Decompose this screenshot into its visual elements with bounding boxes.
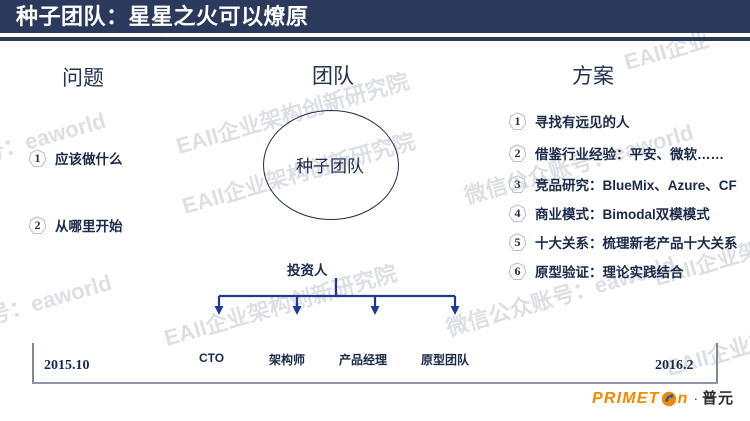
page-title: 种子团队：星星之火可以燎原: [16, 3, 309, 31]
number-badge-label: 2: [508, 144, 527, 163]
timeline-baseline: [32, 382, 718, 384]
list-item-label: 寻找有远见的人: [535, 111, 630, 131]
list-item-solution-5: 5 十大关系：梳理新老产品十大关系: [508, 232, 738, 252]
list-item-problem-2: 2 从哪里开始: [28, 215, 123, 235]
number-badge-icon: 3: [508, 175, 527, 194]
number-badge-icon: 4: [508, 204, 527, 223]
list-item-label: 原型验证：理论实践结合: [535, 261, 684, 281]
number-badge-icon: 1: [28, 149, 47, 168]
list-item-label: 竞品研究：BlueMix、Azure、CF: [535, 174, 737, 194]
logo-globe-icon: [661, 391, 677, 407]
timeline-end-date: 2016.2: [655, 358, 694, 374]
list-item-solution-3: 3 竞品研究：BlueMix、Azure、CF: [508, 174, 737, 194]
timeline-role-cto: CTO: [199, 351, 224, 365]
team-circle-label: 种子团队: [263, 152, 397, 177]
title-bar: 种子团队：星星之火可以燎原: [0, 0, 750, 33]
list-item-solution-1: 1 寻找有远见的人: [508, 111, 630, 131]
number-badge-label: 5: [508, 233, 527, 252]
timeline-role-prototype-team: 原型团队: [421, 351, 469, 368]
list-item-solution-2: 2 借鉴行业经验：平安、微软……: [508, 143, 724, 163]
primeton-logo: PRIMET n · 普元: [592, 391, 734, 407]
list-item-solution-6: 6 原型验证：理论实践结合: [508, 261, 684, 281]
org-root-label: 投资人: [287, 259, 328, 279]
list-item-label: 应该做什么: [55, 148, 123, 168]
column-heading-solutions: 方案: [572, 60, 614, 90]
list-item-label: 商业模式：Bimodal双模模式: [535, 203, 710, 223]
timeline-start-date: 2015.10: [44, 358, 90, 374]
number-badge-label: 3: [508, 175, 527, 194]
list-item-solution-4: 4 商业模式：Bimodal双模模式: [508, 203, 710, 223]
slide-canvas: EAII企业架构创新研究院微信公众账号：eaworld号：eaworldEAII…: [0, 0, 750, 421]
list-item-label: 十大关系：梳理新老产品十大关系: [535, 232, 738, 252]
column-heading-problems: 问题: [62, 62, 104, 92]
logo-wordmark-cn: 普元: [702, 391, 734, 407]
number-badge-icon: 2: [28, 216, 47, 235]
list-item-label: 借鉴行业经验：平安、微软……: [535, 143, 724, 163]
logo-wordmark-latin: PRIMET: [592, 391, 660, 407]
number-badge-icon: 2: [508, 144, 527, 163]
number-badge-icon: 6: [508, 262, 527, 281]
number-badge-label: 1: [28, 149, 47, 168]
number-badge-label: 4: [508, 204, 527, 223]
number-badge-icon: 5: [508, 233, 527, 252]
number-badge-icon: 1: [508, 112, 527, 131]
number-badge-label: 1: [508, 112, 527, 131]
logo-wordmark-latin-tail: n: [678, 391, 689, 407]
timeline-role-product-manager: 产品经理: [339, 351, 387, 368]
logo-separator: ·: [694, 391, 698, 407]
list-item-label: 从哪里开始: [55, 215, 123, 235]
number-badge-label: 6: [508, 262, 527, 281]
number-badge-label: 2: [28, 216, 47, 235]
timeline-right-edge: [716, 343, 718, 383]
timeline-role-architect: 架构师: [269, 351, 305, 368]
list-item-problem-1: 1 应该做什么: [28, 148, 123, 168]
title-underline-rule: [0, 37, 750, 41]
column-heading-team: 团队: [312, 60, 354, 90]
timeline-left-edge: [32, 343, 34, 383]
